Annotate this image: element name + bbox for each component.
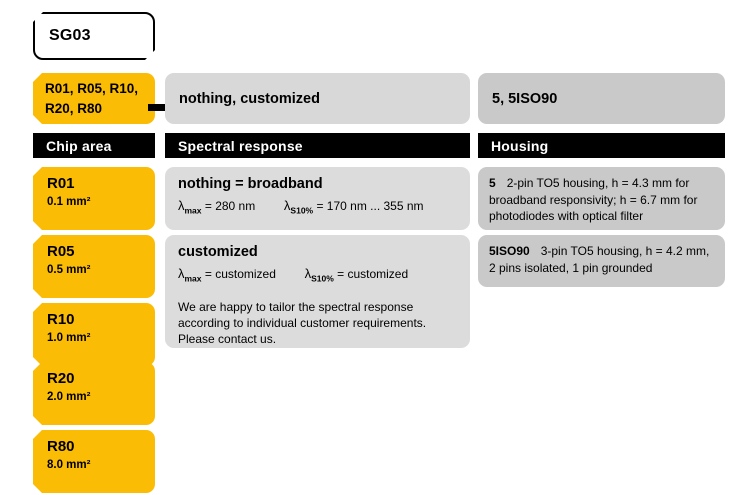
lambda-s10-subscript: S10% (311, 273, 334, 283)
lambda-s10-value: = customized (337, 267, 408, 281)
spectral-response-card[interactable]: customized λmax = customized λS10% = cus… (165, 235, 470, 348)
chip-area-value: 2.0 mm² (47, 391, 155, 403)
housing-description: 52-pin TO5 housing, h = 4.3 mm for broad… (489, 175, 715, 225)
lambda-s10-subscript: S10% (290, 205, 313, 215)
chip-area-value: 0.5 mm² (47, 264, 155, 276)
product-code-label: SG03 (49, 27, 91, 45)
header-spectral-response-label: Spectral response (178, 138, 303, 154)
spectral-response-title: customized (178, 244, 458, 261)
chip-area-value: 8.0 mm² (47, 459, 155, 471)
spectral-response-parameters: λmax = customized λS10% = customized (178, 266, 458, 283)
summary-spectral-codes-label: nothing, customized (179, 91, 320, 107)
header-spectral-response: Spectral response (165, 133, 470, 158)
summary-spectral-codes: nothing, customized (165, 73, 470, 124)
lambda-s10-value: = 170 nm ... 355 nm (316, 199, 423, 213)
chip-area-name: R05 (47, 244, 155, 261)
datasheet-selection-table: SG03 R01, R05, R10, R20, R80 nothing, cu… (0, 0, 747, 495)
chip-area-card[interactable]: R01 0.1 mm² (33, 167, 155, 230)
chip-area-card[interactable]: R10 1.0 mm² (33, 303, 155, 366)
header-housing-label: Housing (491, 138, 548, 154)
housing-text: 2-pin TO5 housing, h = 4.3 mm for broadb… (489, 176, 697, 223)
summary-housing-codes: 5, 5ISO90 (478, 73, 725, 124)
chip-area-value: 0.1 mm² (47, 196, 155, 208)
lambda-max-subscript: max (185, 205, 202, 215)
spectral-response-card[interactable]: nothing = broadband λmax = 280 nm λS10% … (165, 167, 470, 230)
housing-card[interactable]: 5ISO903-pin TO5 housing, h = 4.2 mm, 2 p… (478, 235, 725, 287)
chip-area-card[interactable]: R05 0.5 mm² (33, 235, 155, 298)
housing-code: 5 (489, 176, 496, 190)
lambda-max-value: = customized (205, 267, 276, 281)
product-code-box: SG03 (33, 12, 155, 60)
housing-description: 5ISO903-pin TO5 housing, h = 4.2 mm, 2 p… (489, 243, 715, 276)
header-chip-area-label: Chip area (46, 138, 112, 154)
summary-chip-codes: R01, R05, R10, R20, R80 (33, 73, 155, 124)
spectral-response-note: We are happy to tailor the spectral resp… (178, 299, 458, 348)
spectral-response-title: nothing = broadband (178, 176, 458, 193)
chip-area-value: 1.0 mm² (47, 332, 155, 344)
summary-housing-codes-label: 5, 5ISO90 (492, 91, 557, 107)
chip-area-name: R10 (47, 312, 155, 329)
chip-area-name: R01 (47, 176, 155, 193)
summary-chip-codes-label: R01, R05, R10, R20, R80 (45, 79, 138, 118)
lambda-max-value: = 280 nm (205, 199, 255, 213)
header-chip-area: Chip area (33, 133, 155, 158)
chip-area-name: R20 (47, 371, 155, 388)
chip-area-name: R80 (47, 439, 155, 456)
chip-area-card[interactable]: R80 8.0 mm² (33, 430, 155, 493)
housing-card[interactable]: 52-pin TO5 housing, h = 4.3 mm for broad… (478, 167, 725, 230)
lambda-max-subscript: max (185, 273, 202, 283)
header-housing: Housing (478, 133, 725, 158)
chip-area-card[interactable]: R20 2.0 mm² (33, 362, 155, 425)
housing-code: 5ISO90 (489, 244, 530, 258)
spectral-response-parameters: λmax = 280 nm λS10% = 170 nm ... 355 nm (178, 198, 458, 215)
